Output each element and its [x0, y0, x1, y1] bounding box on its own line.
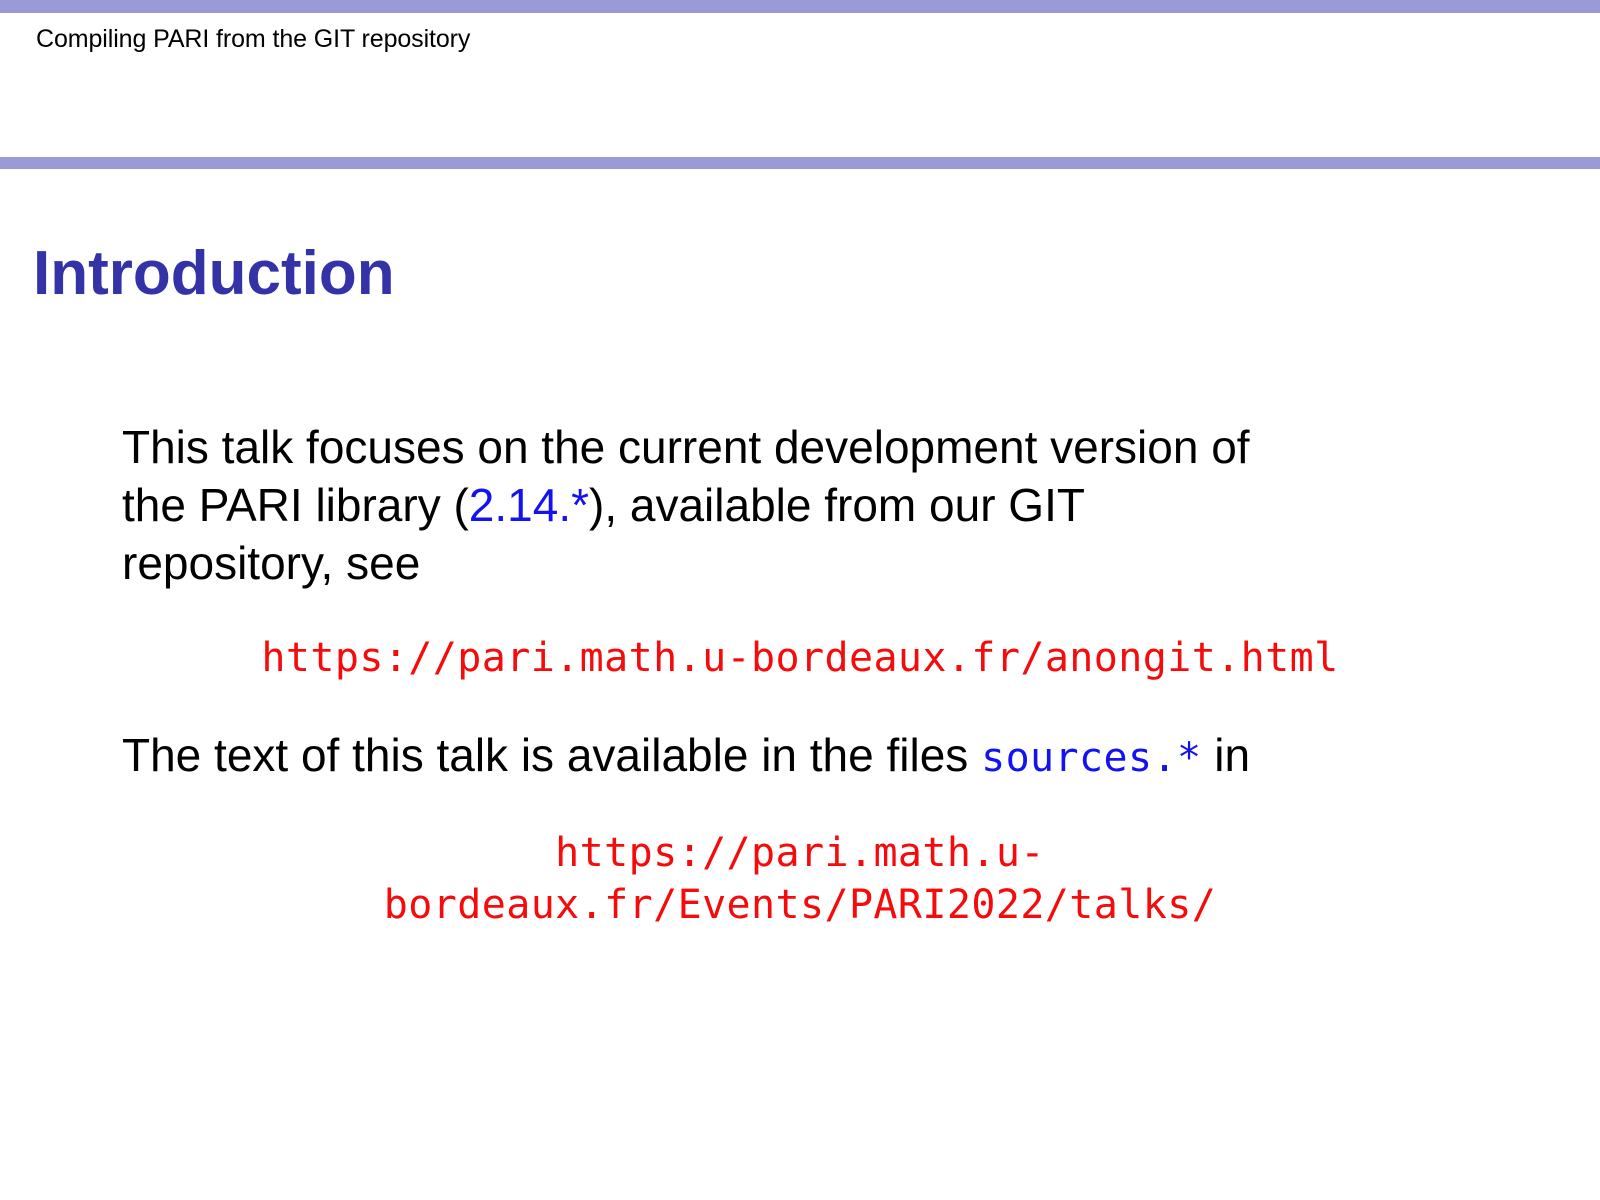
pari-version-highlight: 2.14.* [469, 479, 589, 531]
slide-headline: Compiling PARI from the GIT repository [36, 24, 470, 54]
intro-paragraph: This talk focuses on the current develop… [0, 418, 1450, 592]
sources-glob-code: sources.* [981, 735, 1201, 781]
anongit-url-link[interactable]: https://pari.math.u-bordeaux.fr/anongit.… [0, 632, 1600, 684]
slide-body: This talk focuses on the current develop… [0, 418, 1600, 931]
talks-url-link[interactable]: https://pari.math.u-bordeaux.fr/Events/P… [0, 827, 1600, 931]
files-text-after: in [1201, 729, 1250, 781]
files-paragraph: The text of this talk is available in th… [0, 726, 1470, 787]
page-title: Introduction [33, 239, 395, 309]
beamer-slide: { "slide": { "headline": "Compiling PARI… [0, 0, 1600, 1200]
beamer-top-bar [0, 0, 1600, 13]
files-text-before: The text of this talk is available in th… [122, 729, 981, 781]
beamer-headline-rule [0, 157, 1600, 169]
